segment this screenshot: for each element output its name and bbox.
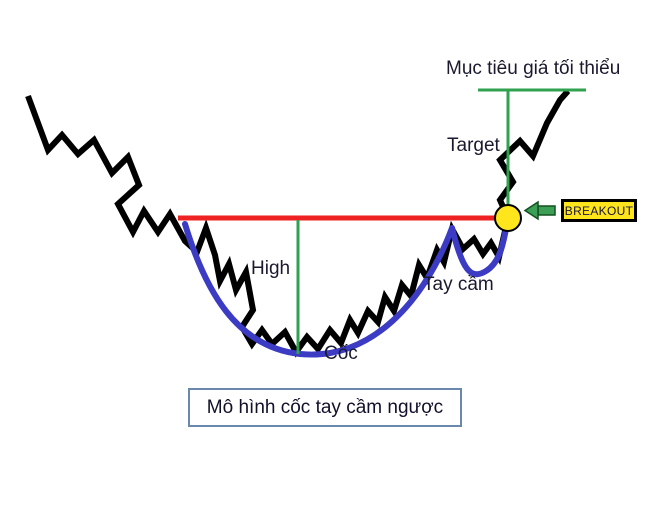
breakout-arrow-icon — [525, 202, 555, 219]
diagram-canvas: Mục tiêu giá tối thiểu Target High Cốc T… — [0, 0, 670, 513]
breakout-marker-icon — [495, 205, 521, 231]
caption-box: Mô hình cốc tay cầm ngược — [188, 388, 462, 427]
target-price-label: Mục tiêu giá tối thiểu — [446, 59, 620, 78]
handle-label: Tay cầm — [423, 275, 494, 294]
cup-label: Cốc — [324, 344, 358, 363]
target-label: Target — [447, 136, 500, 155]
breakout-badge: BREAKOUT — [561, 199, 637, 222]
high-label: High — [251, 259, 290, 278]
caption-text: Mô hình cốc tay cầm ngược — [207, 397, 443, 419]
